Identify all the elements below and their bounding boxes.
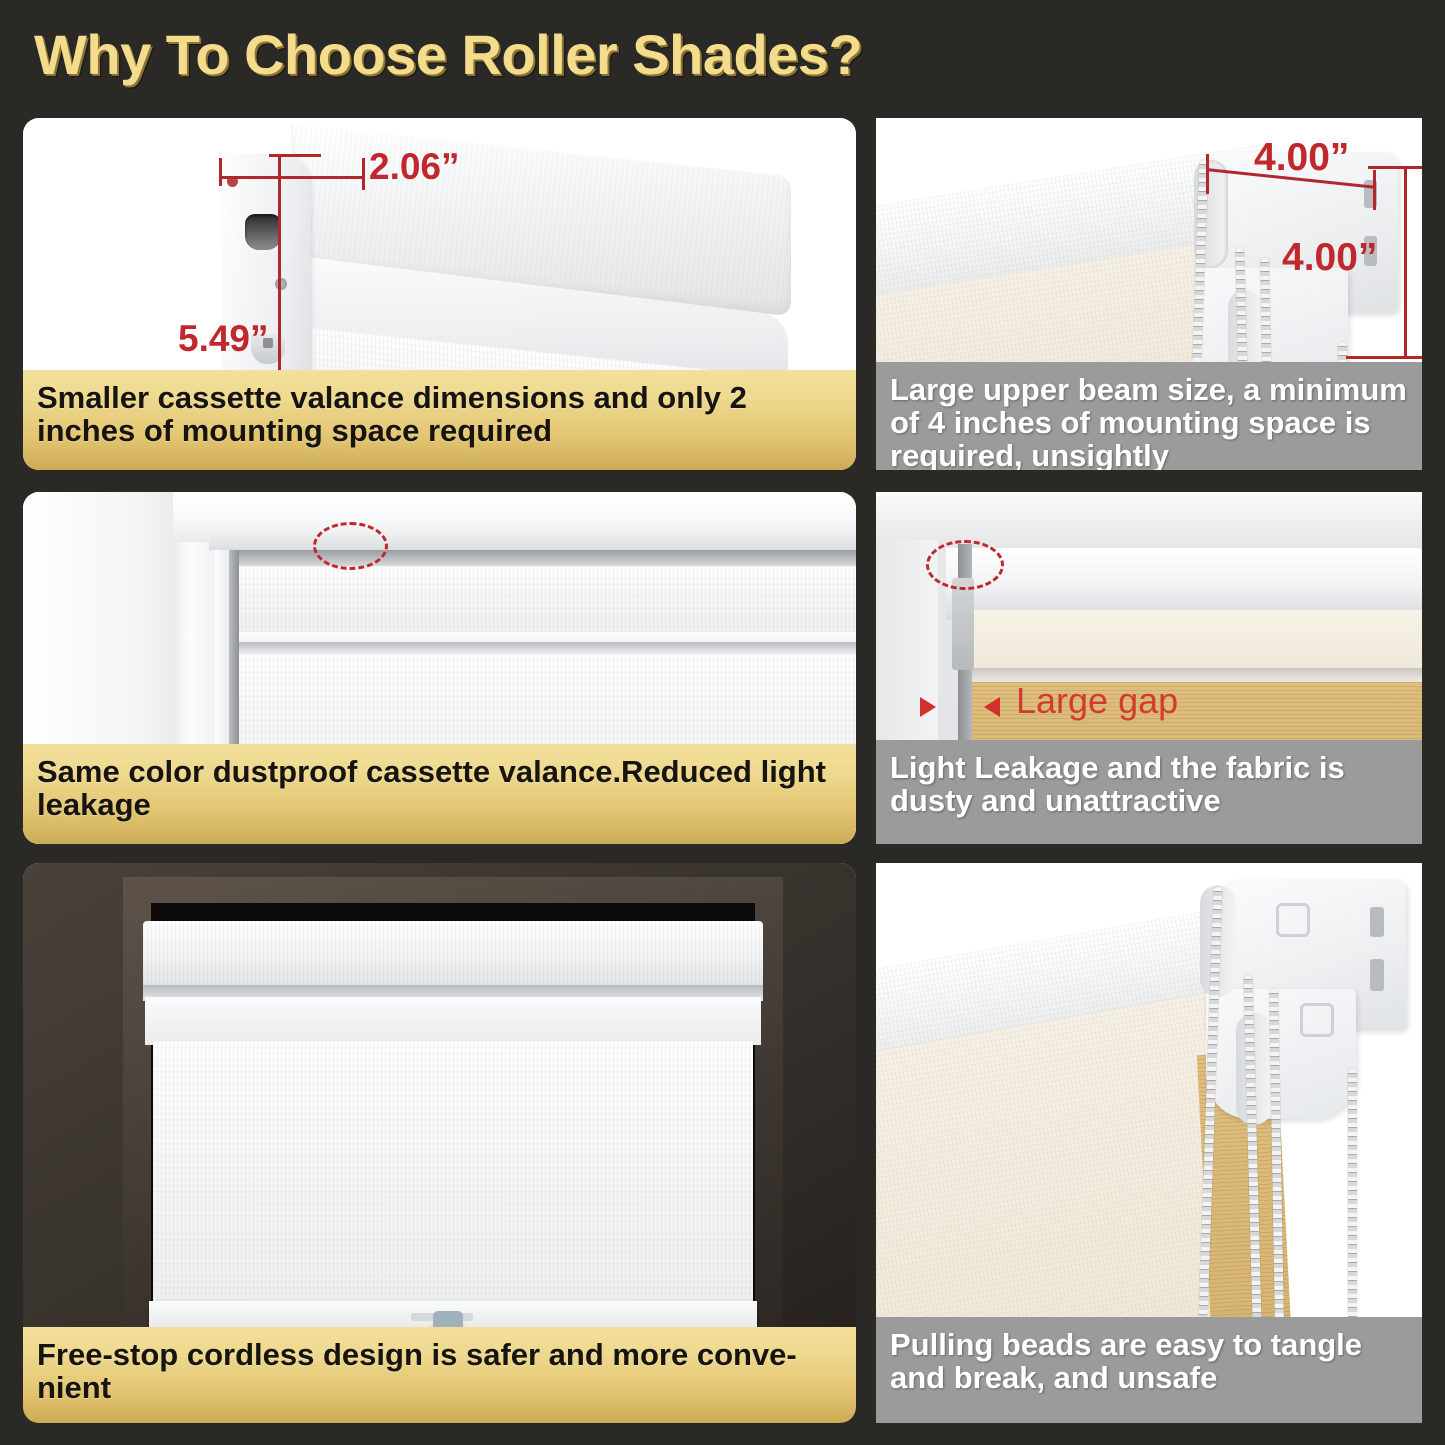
dim-tick-top xyxy=(1368,166,1422,169)
gap-arrow-left xyxy=(920,697,936,717)
highlight-ellipse xyxy=(313,522,388,570)
panel-6: Pulling beads are easy to tangle and bre… xyxy=(876,863,1422,1423)
panel-6-caption: Pulling beads are easy to tangle and bre… xyxy=(876,1317,1422,1423)
panel-1: 2.06” 5.49” Smaller cassette valance dim… xyxy=(23,118,856,470)
panel-4-caption: Light Leakage and the fabric is dusty an… xyxy=(876,740,1422,844)
panel-3-caption: Same color dustproof cassette valance.Re… xyxy=(23,744,856,844)
dim-line-height xyxy=(1404,166,1407,358)
dim-height-label: 5.49” xyxy=(178,318,269,360)
page-title: Why To Choose Roller Shades? xyxy=(34,22,862,87)
panel-2: 4.00” 4.00” Large upper beam size, a min… xyxy=(876,118,1422,470)
infographic-page: Why To Choose Roller Shades? xyxy=(0,0,1445,1445)
panel-1-caption: Smaller cassette valance dimensions and … xyxy=(23,370,856,470)
highlight-ellipse xyxy=(926,540,1004,590)
dim-tick-bottom xyxy=(1346,356,1422,359)
dim-width-label: 2.06” xyxy=(369,146,460,188)
bead-chain xyxy=(1348,1069,1357,1325)
panel-5: Free-stop cordless design is safer and m… xyxy=(23,863,856,1423)
gap-label: Large gap xyxy=(1016,680,1178,722)
panel-4: Large gap Light Leakage and the fabric i… xyxy=(876,492,1422,844)
dim-tick-left xyxy=(219,158,222,186)
panel-5-caption: Free-stop cordless design is safer and m… xyxy=(23,1327,856,1423)
dim-tick-right xyxy=(1373,170,1376,210)
dim-tick-left xyxy=(1206,154,1209,194)
dim-tick-top xyxy=(269,154,321,157)
panel-3: smaller gap Same color dustproof cassett… xyxy=(23,492,856,844)
dim-width-label: 4.00” xyxy=(1254,136,1349,180)
dim-height-label: 4.00” xyxy=(1282,236,1377,280)
gap-arrow-right xyxy=(984,697,1000,717)
dim-tick-right xyxy=(362,158,365,190)
panel-2-caption: Large upper beam size, a minimum of 4 in… xyxy=(876,362,1422,470)
dim-line-width xyxy=(219,176,365,179)
